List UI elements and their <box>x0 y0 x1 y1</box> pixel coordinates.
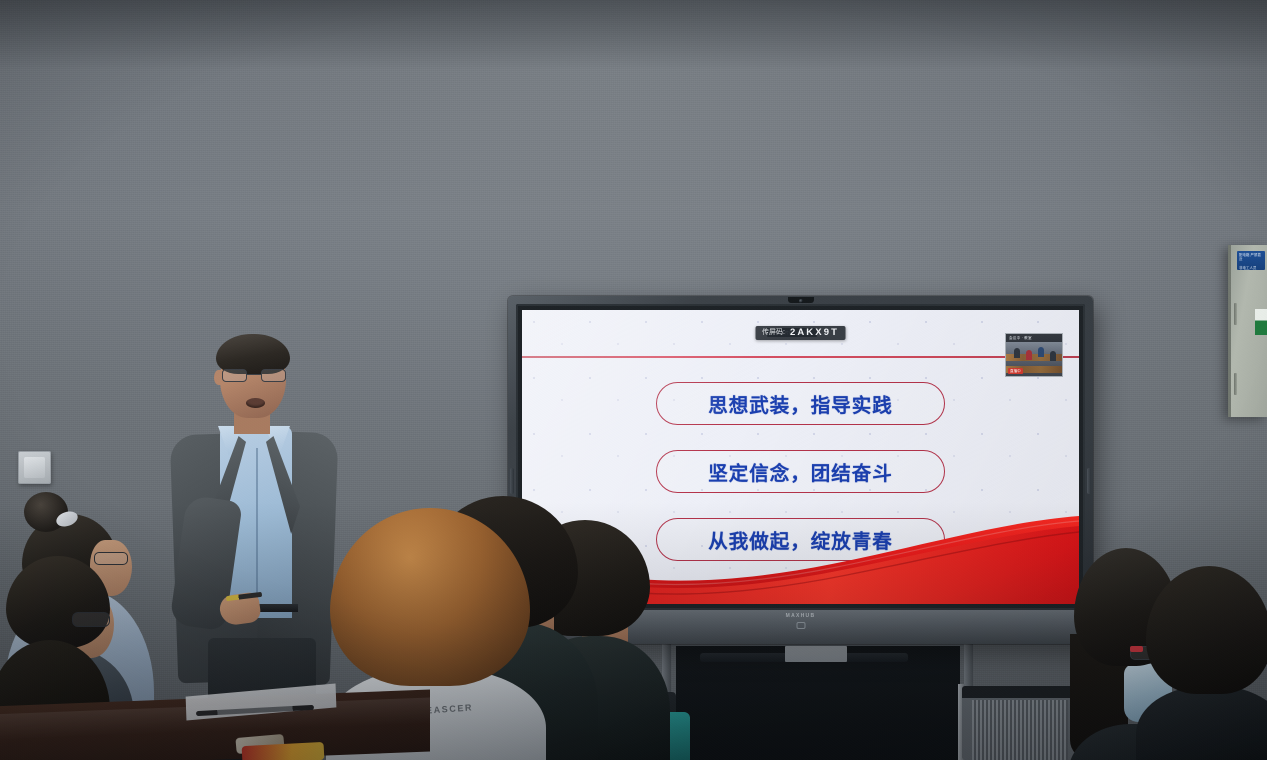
cabinet-sticker <box>1255 309 1267 335</box>
chair-mesh-back <box>972 700 1068 760</box>
presenter-hair <box>216 334 290 374</box>
student-glasses-red-temple <box>1130 646 1143 652</box>
pip-live-badge: 直播中 <box>1008 368 1023 374</box>
pip-person-1 <box>1014 348 1020 358</box>
cabinet-label-line-1: 配电箱 严禁靠近 <box>1237 251 1265 264</box>
pip-video-thumbnail[interactable]: 会议中 · 教室 直播中 <box>1005 333 1063 377</box>
board-stand-device-box <box>785 646 847 662</box>
presenter-mouth <box>246 398 265 408</box>
student-glasses <box>72 612 110 627</box>
board-side-handle-left <box>510 468 514 494</box>
pip-person-4 <box>1050 351 1056 361</box>
slide-bullet-pill: 坚定信念，团结奋斗 <box>656 450 945 493</box>
candy-wrapper-colored <box>242 742 325 760</box>
board-brand-logo: MAXHUB <box>786 613 816 619</box>
presenter-shirt-placket <box>256 448 258 608</box>
cast-code-banner: 传屏码: 2AKX9T <box>755 326 846 340</box>
student-hair <box>330 508 530 686</box>
slide-bullet-text: 思想武装，指导实践 <box>708 389 893 418</box>
pip-person-3 <box>1038 347 1044 357</box>
photo-scene: 配电箱 严禁靠近 非电工人员 严禁打开箱门 注意安全 防止触电 无线传屏 已连接… <box>0 0 1267 760</box>
cast-code-label: 传屏码: <box>762 329 785 336</box>
cabinet-hinge-bottom <box>1234 373 1237 395</box>
slide-bullet-text: 坚定信念，团结奋斗 <box>708 457 893 486</box>
presenter-glasses-lens-left <box>222 369 247 382</box>
presenter-glasses-bridge <box>247 374 261 375</box>
slide-bullet-pill: 思想武装，指导实践 <box>656 382 945 425</box>
cabinet-hinge-top <box>1234 303 1237 325</box>
cast-code-value: 2AKX9T <box>790 328 839 338</box>
presenter-glasses <box>222 369 286 382</box>
cabinet-label-line-2: 非电工人员 <box>1237 264 1265 270</box>
light-switch[interactable] <box>18 451 51 484</box>
student-hair <box>1146 566 1267 694</box>
light-switch-rocker[interactable] <box>24 457 45 478</box>
student-far-right <box>1146 566 1267 760</box>
presenter-glasses-lens-right <box>261 369 286 382</box>
ceiling-shadow <box>0 0 1267 70</box>
board-side-handle-right <box>1087 468 1091 494</box>
board-power-button[interactable] <box>796 622 805 629</box>
pip-person-2 <box>1026 350 1032 360</box>
board-camera-icon <box>788 297 814 303</box>
student-hair <box>6 556 110 648</box>
electrical-cabinet: 配电箱 严禁靠近 非电工人员 严禁打开箱门 注意安全 防止触电 <box>1228 245 1267 417</box>
pip-title: 会议中 · 教室 <box>1006 334 1062 342</box>
student-body <box>1136 686 1267 760</box>
cabinet-warning-label: 配电箱 严禁靠近 非电工人员 严禁打开箱门 注意安全 防止触电 <box>1237 251 1265 270</box>
slide-top-rule <box>522 356 1079 358</box>
